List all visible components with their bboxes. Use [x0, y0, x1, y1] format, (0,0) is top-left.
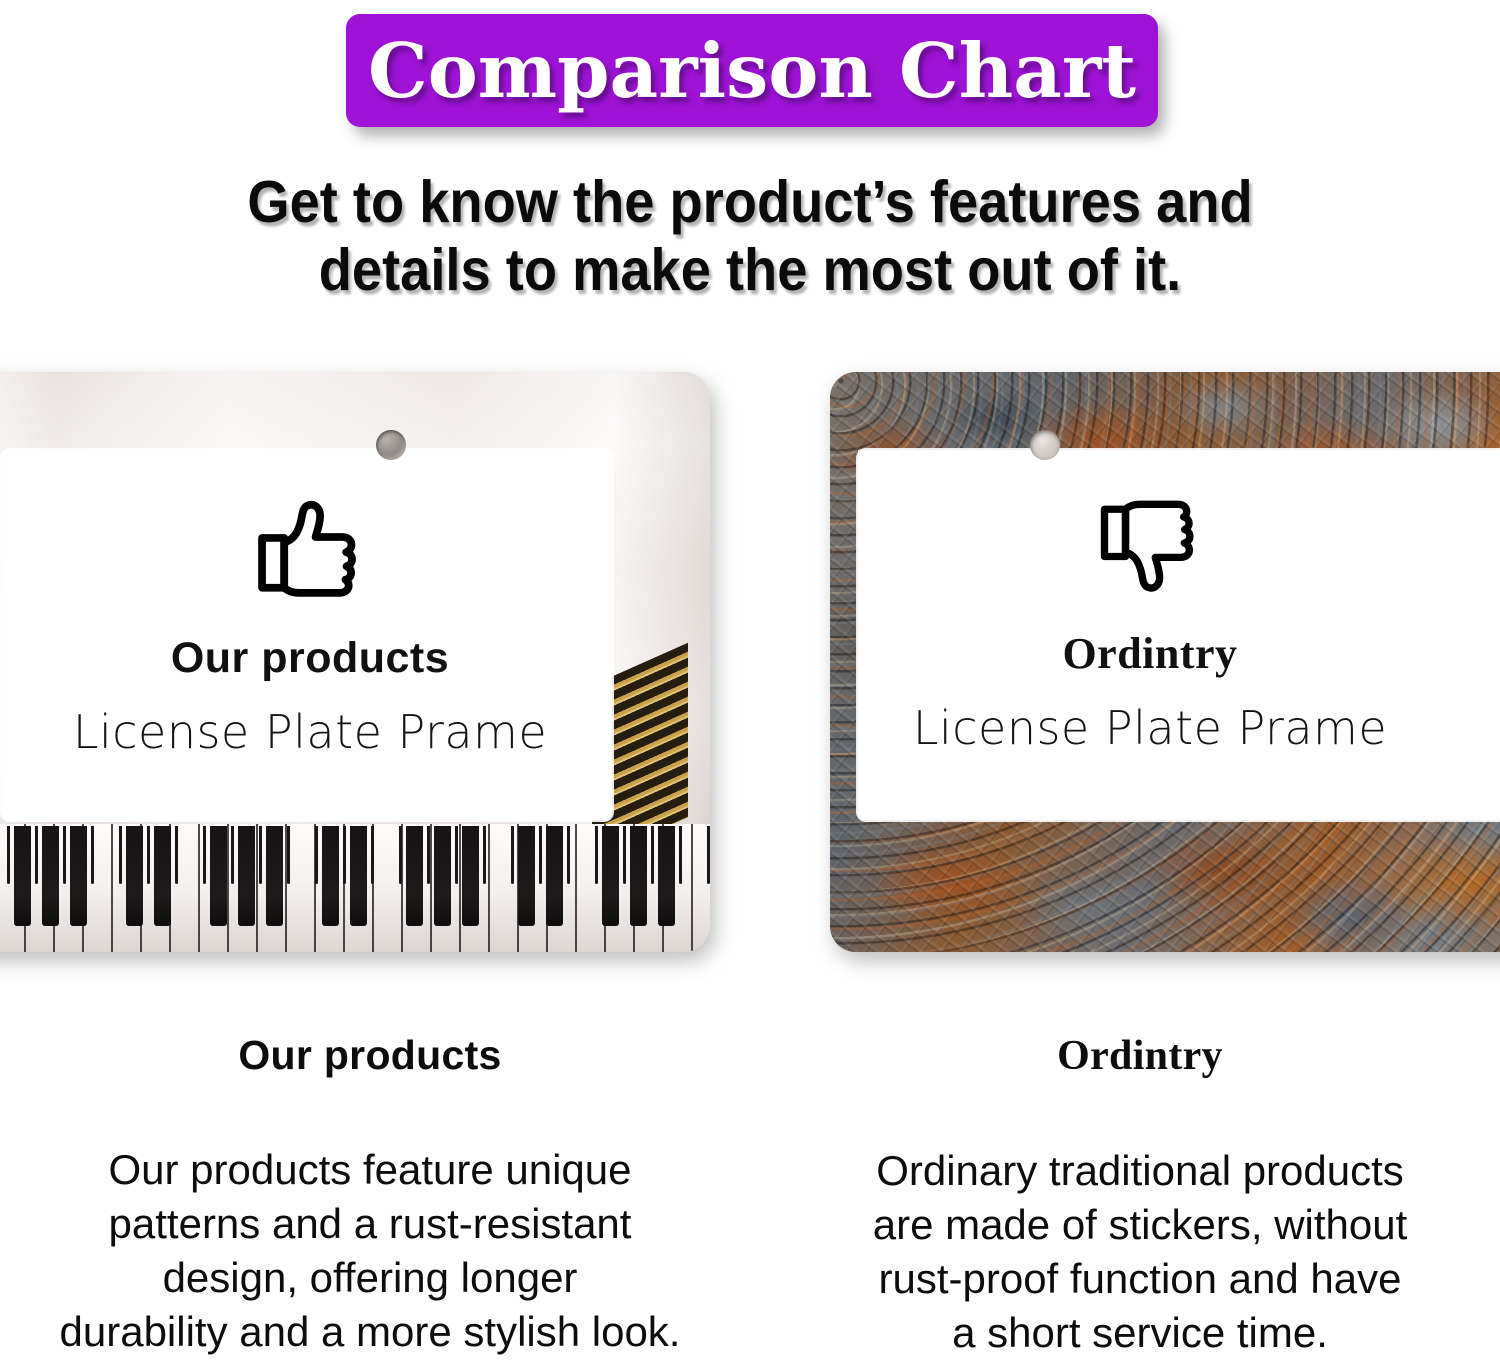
- piano-key-stem: [7, 826, 10, 884]
- left-description-line-1: Our products feature unique: [20, 1143, 720, 1197]
- ordinary-product-frame: Ordintry License Plate Prame: [830, 372, 1500, 952]
- piano-key-stem: [679, 826, 682, 884]
- silver-piano-plate-frame: Our products License Plate Prame: [0, 372, 710, 952]
- piano-key-stem: [287, 826, 290, 884]
- title-banner: Comparison Chart: [346, 14, 1158, 127]
- subtitle-line-1: Get to know the product’s features and: [60, 168, 1440, 236]
- piano-key-stem: [119, 826, 122, 884]
- piano-key-stem: [651, 826, 654, 884]
- piano-key-stem: [399, 826, 402, 884]
- thumbs-up-icon: [251, 490, 369, 608]
- piano-black-key: [154, 826, 171, 926]
- piano-key-stem: [707, 826, 710, 884]
- mounting-hole-right: [1030, 430, 1060, 460]
- left-column-heading: Our products: [20, 1032, 720, 1079]
- thumbs-down-icon: [1094, 490, 1206, 602]
- left-description-line-4: durability and a more stylish look.: [20, 1305, 720, 1359]
- piano-key-stem: [371, 826, 374, 884]
- piano-key-stem: [539, 826, 542, 884]
- piano-key-stem: [483, 826, 486, 884]
- piano-key-stem: [595, 826, 598, 884]
- piano-key-stem: [203, 826, 206, 884]
- piano-key-stem: [511, 826, 514, 884]
- piano-key-stem: [259, 826, 262, 884]
- piano-key-stem: [147, 826, 150, 884]
- right-column-body: Ordinary traditional productsare made of…: [780, 1144, 1500, 1360]
- piano-key-stem: [623, 826, 626, 884]
- right-frame-subtitle: License Plate Prame: [830, 701, 1500, 755]
- piano-key-stem: [63, 826, 66, 884]
- right-description-line-3: rust-proof function and have: [780, 1252, 1500, 1306]
- right-column-heading: Ordintry: [780, 1032, 1500, 1080]
- piano-key-stem: [231, 826, 234, 884]
- piano-black-key: [546, 826, 563, 926]
- piano-key-stem: [567, 826, 570, 884]
- subtitle-line-2: details to make the most out of it.: [60, 236, 1440, 304]
- piano-keyboard-strip: [0, 824, 710, 952]
- left-frame-subtitle: License Plate Prame: [0, 705, 710, 759]
- piano-black-key: [266, 826, 283, 926]
- rusted-plate-frame: Ordintry License Plate Prame: [830, 372, 1500, 952]
- piano-black-key: [322, 826, 339, 926]
- piano-black-key: [238, 826, 255, 926]
- piano-black-key: [518, 826, 535, 926]
- piano-black-key: [462, 826, 479, 926]
- right-description-line-2: are made of stickers, without: [780, 1198, 1500, 1252]
- frame-body-rust: Ordintry License Plate Prame: [830, 372, 1500, 952]
- piano-black-key: [210, 826, 227, 926]
- piano-key-stem: [175, 826, 178, 884]
- left-description-line-2: patterns and a rust-resistant: [20, 1197, 720, 1251]
- piano-key-stem: [315, 826, 318, 884]
- right-description-line-4: a short service time.: [780, 1306, 1500, 1360]
- piano-black-key: [70, 826, 87, 926]
- frame-body-silver: Our products License Plate Prame: [0, 372, 710, 952]
- piano-key-stem: [427, 826, 430, 884]
- page-title: Comparison Chart: [368, 27, 1136, 115]
- piano-black-key: [126, 826, 143, 926]
- piano-key-stem: [91, 826, 94, 884]
- page-subtitle: Get to know the product’s features and d…: [60, 168, 1440, 304]
- piano-black-key: [350, 826, 367, 926]
- piano-key-stem: [343, 826, 346, 884]
- right-frame-content: Ordintry License Plate Prame: [830, 490, 1500, 755]
- piano-black-key: [14, 826, 31, 926]
- left-frame-brand: Our products: [0, 634, 710, 683]
- mounting-hole-left: [376, 430, 406, 460]
- left-description-column: Our products Our products feature unique…: [20, 1032, 720, 1359]
- right-frame-brand: Ordintry: [830, 628, 1500, 679]
- left-column-body: Our products feature uniquepatterns and …: [20, 1143, 720, 1359]
- right-description-column: Ordintry Ordinary traditional productsar…: [780, 1032, 1500, 1360]
- left-description-line-3: design, offering longer: [20, 1251, 720, 1305]
- piano-black-key: [630, 826, 647, 926]
- piano-black-key: [658, 826, 675, 926]
- our-product-frame: Our products License Plate Prame: [0, 372, 710, 952]
- piano-black-key: [42, 826, 59, 926]
- piano-black-key: [602, 826, 619, 926]
- piano-key-stem: [35, 826, 38, 884]
- piano-black-key: [406, 826, 423, 926]
- left-frame-content: Our products License Plate Prame: [0, 490, 710, 759]
- piano-key-stem: [455, 826, 458, 884]
- piano-black-key: [434, 826, 451, 926]
- right-description-line-1: Ordinary traditional products: [780, 1144, 1500, 1198]
